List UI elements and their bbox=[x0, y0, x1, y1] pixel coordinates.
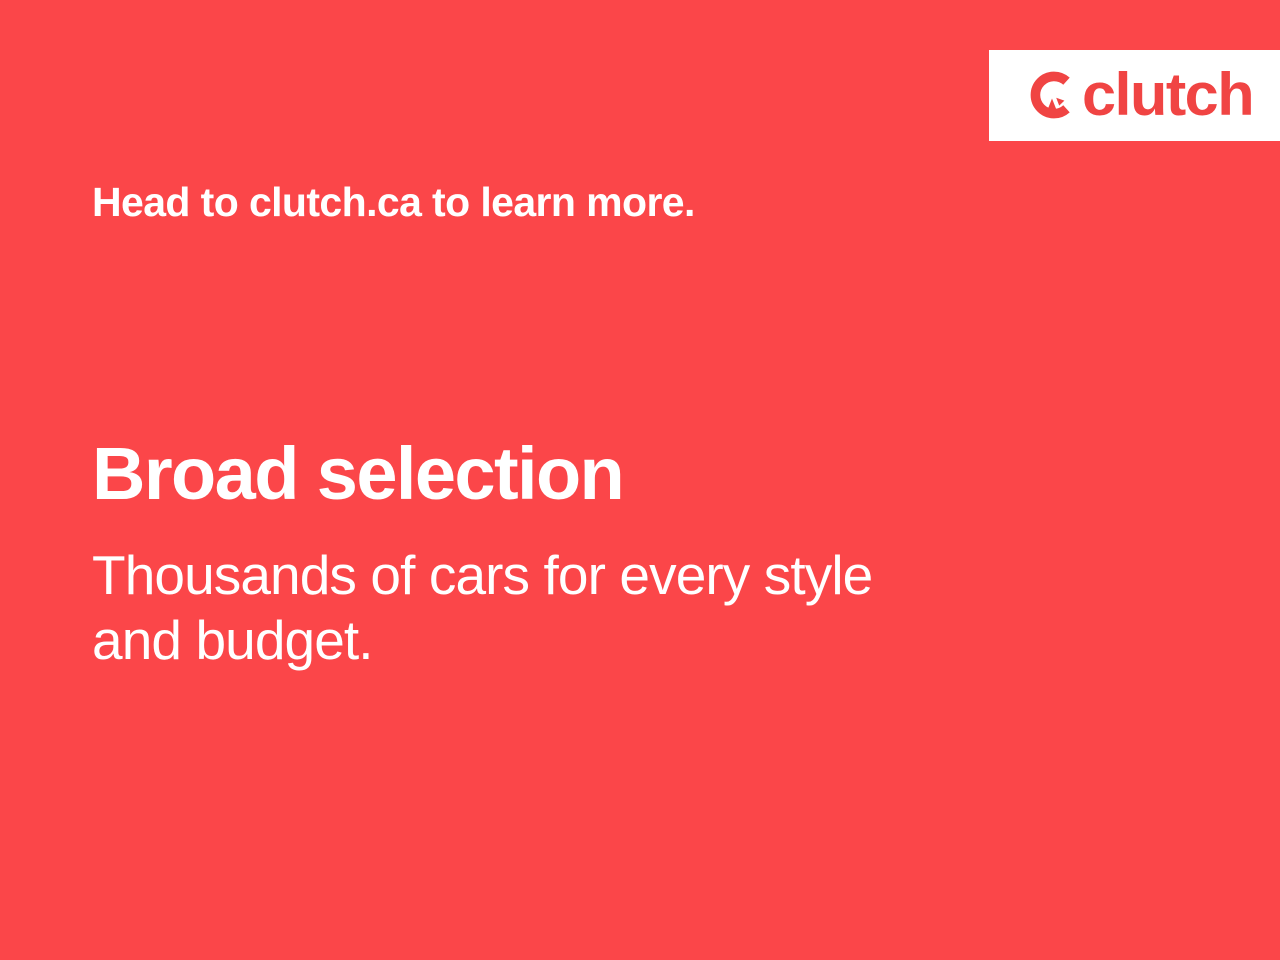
promo-slide: clutch Head to clutch.ca to learn more. … bbox=[0, 0, 1280, 960]
subhead: Thousands of cars for every style and bu… bbox=[92, 543, 1052, 673]
brand-wordmark: clutch bbox=[1082, 65, 1253, 125]
clutch-ring-icon bbox=[1026, 69, 1078, 121]
subhead-line-2: and budget. bbox=[92, 608, 1052, 673]
brand-lockup[interactable]: clutch bbox=[1026, 65, 1250, 125]
page-title: Broad selection bbox=[92, 434, 623, 514]
brand-plate: clutch bbox=[989, 50, 1280, 141]
subhead-line-1: Thousands of cars for every style bbox=[92, 543, 1052, 608]
eyebrow-text: Head to clutch.ca to learn more. bbox=[92, 178, 695, 227]
